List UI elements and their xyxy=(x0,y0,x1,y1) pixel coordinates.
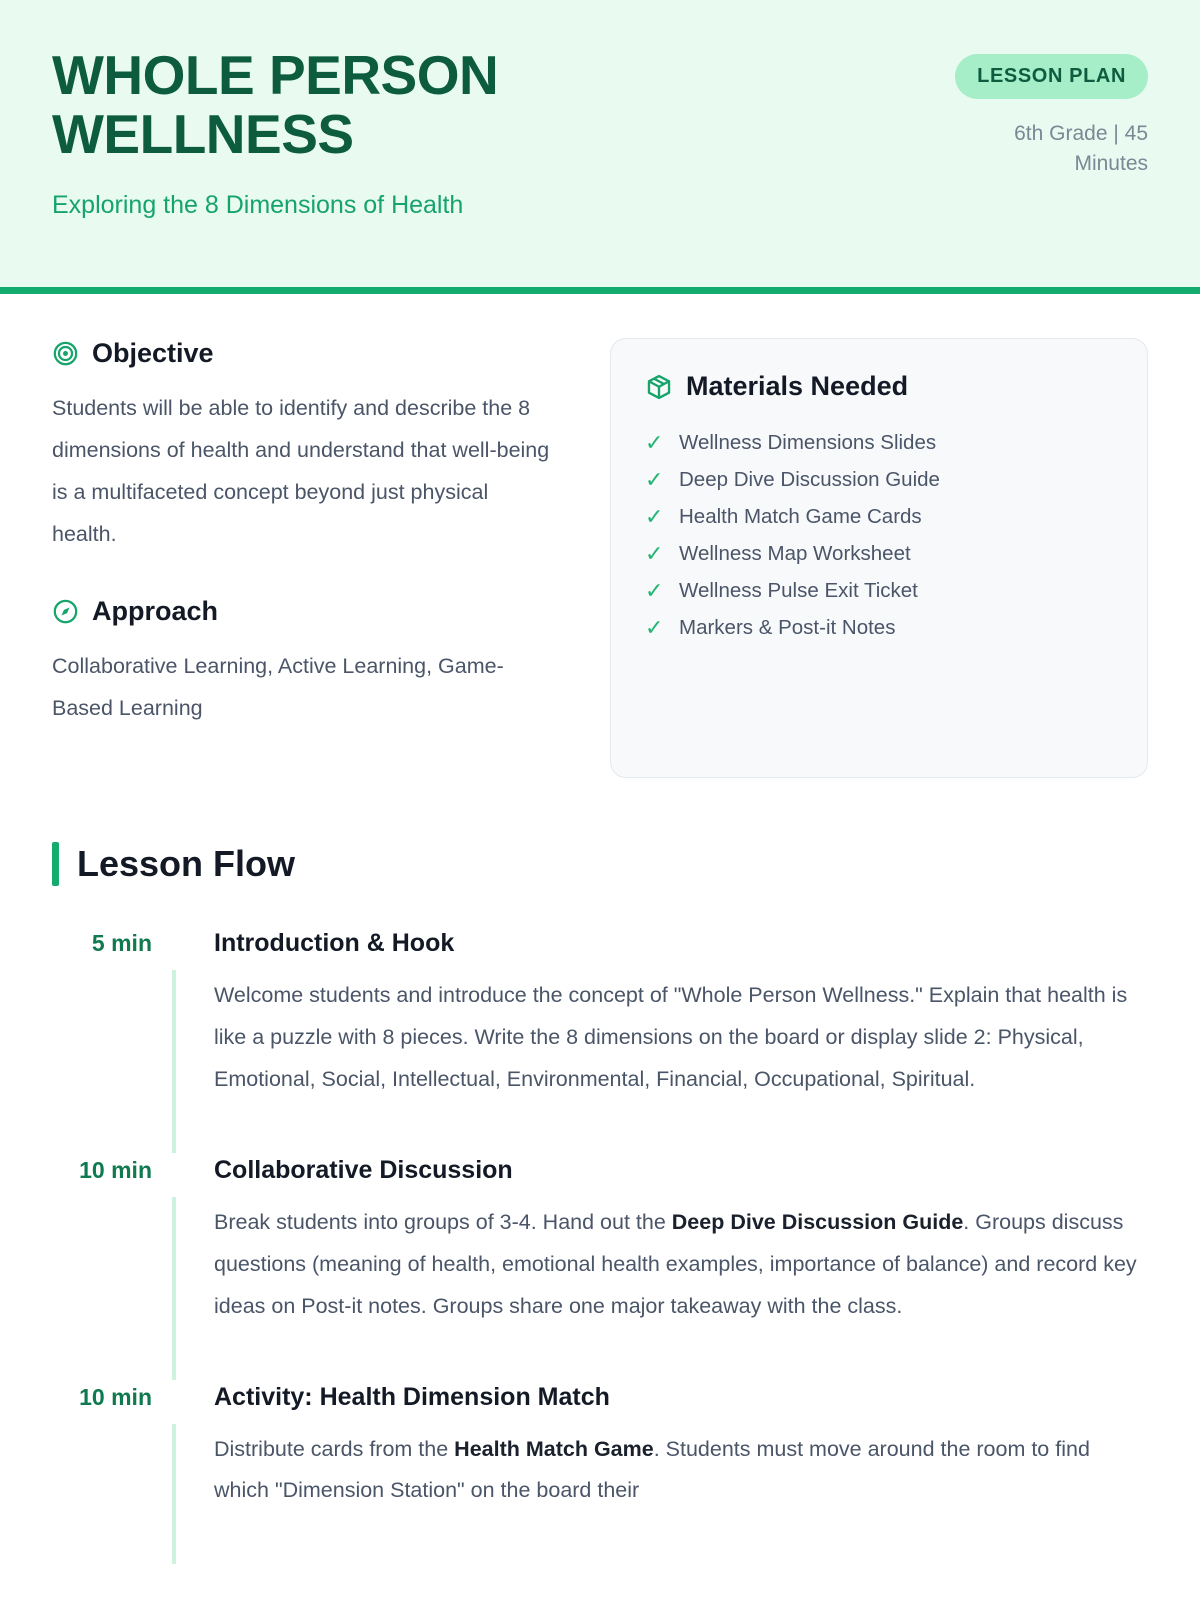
step-title: Activity: Health Dimension Match xyxy=(214,1380,1148,1415)
step-description: Distribute cards from the Health Match G… xyxy=(214,1429,1148,1513)
list-item: ✓Health Match Game Cards xyxy=(645,498,1113,535)
lesson-step: 5 minIntroduction & HookWelcome students… xyxy=(52,926,1148,1153)
material-label: Deep Dive Discussion Guide xyxy=(679,468,940,492)
step-emphasis: Health Match Game xyxy=(454,1437,654,1461)
step-emphasis: Deep Dive Discussion Guide xyxy=(672,1210,964,1234)
document-header: WHOLE PERSON WELLNESS Exploring the 8 Di… xyxy=(0,0,1200,294)
overview-right-column: Materials Needed ✓Wellness Dimensions Sl… xyxy=(610,338,1148,778)
step-description: Welcome students and introduce the conce… xyxy=(214,975,1148,1101)
check-icon: ✓ xyxy=(645,469,665,491)
step-text-run: Break students into groups of 3-4. Hand … xyxy=(214,1210,672,1234)
material-label: Wellness Map Worksheet xyxy=(679,542,911,566)
lesson-flow-title: Lesson Flow xyxy=(77,843,295,885)
compass-icon xyxy=(52,598,79,625)
lesson-step: 10 minActivity: Health Dimension MatchDi… xyxy=(52,1380,1148,1565)
lesson-flow-section: Lesson Flow 5 minIntroduction & HookWelc… xyxy=(52,842,1148,1564)
check-icon: ✓ xyxy=(645,506,665,528)
objective-heading-row: Objective xyxy=(52,338,552,369)
materials-heading-row: Materials Needed xyxy=(645,371,1113,402)
timeline-rail xyxy=(172,1424,176,1565)
lesson-flow-heading-row: Lesson Flow xyxy=(52,842,1148,886)
material-label: Markers & Post-it Notes xyxy=(679,616,895,640)
approach-title: Approach xyxy=(92,596,218,627)
step-duration: 10 min xyxy=(52,1380,174,1415)
step-body: Activity: Health Dimension MatchDistribu… xyxy=(174,1380,1148,1513)
materials-title: Materials Needed xyxy=(686,371,908,402)
step-body: Collaborative DiscussionBreak students i… xyxy=(174,1153,1148,1328)
check-icon: ✓ xyxy=(645,432,665,454)
objective-section: Objective Students will be able to ident… xyxy=(52,338,552,556)
lesson-step: 10 minCollaborative DiscussionBreak stud… xyxy=(52,1153,1148,1380)
materials-card: Materials Needed ✓Wellness Dimensions Sl… xyxy=(610,338,1148,778)
list-item: ✓Markers & Post-it Notes xyxy=(645,609,1113,646)
main-content: Objective Students will be able to ident… xyxy=(0,294,1200,1564)
step-title: Collaborative Discussion xyxy=(214,1153,1148,1188)
step-body: Introduction & HookWelcome students and … xyxy=(174,926,1148,1101)
list-item: ✓Wellness Map Worksheet xyxy=(645,535,1113,572)
material-label: Wellness Dimensions Slides xyxy=(679,431,936,455)
material-label: Health Match Game Cards xyxy=(679,505,922,529)
approach-text: Collaborative Learning, Active Learning,… xyxy=(52,646,552,730)
target-icon xyxy=(52,340,79,367)
material-label: Wellness Pulse Exit Ticket xyxy=(679,579,918,603)
materials-list: ✓Wellness Dimensions Slides✓Deep Dive Di… xyxy=(645,424,1113,646)
status-badge: LESSON PLAN xyxy=(955,54,1148,99)
check-icon: ✓ xyxy=(645,543,665,565)
overview-grid: Objective Students will be able to ident… xyxy=(52,338,1148,778)
objective-text: Students will be able to identify and de… xyxy=(52,388,552,556)
check-icon: ✓ xyxy=(645,580,665,602)
step-duration: 10 min xyxy=(52,1153,174,1188)
step-text-run: Distribute cards from the xyxy=(214,1437,454,1461)
approach-heading-row: Approach xyxy=(52,596,552,627)
check-icon: ✓ xyxy=(645,617,665,639)
objective-title: Objective xyxy=(92,338,214,369)
approach-section: Approach Collaborative Learning, Active … xyxy=(52,596,552,730)
header-left: WHOLE PERSON WELLNESS Exploring the 8 Di… xyxy=(52,46,752,220)
step-text-run: Welcome students and introduce the conce… xyxy=(214,983,1127,1091)
list-item: ✓Wellness Pulse Exit Ticket xyxy=(645,572,1113,609)
step-description: Break students into groups of 3-4. Hand … xyxy=(214,1202,1148,1328)
list-item: ✓Deep Dive Discussion Guide xyxy=(645,461,1113,498)
page-subtitle: Exploring the 8 Dimensions of Health xyxy=(52,191,752,220)
step-title: Introduction & Hook xyxy=(214,926,1148,961)
package-icon xyxy=(645,373,673,401)
page-title: WHOLE PERSON WELLNESS xyxy=(52,46,752,165)
timeline-rail xyxy=(172,970,176,1153)
timeline-rail xyxy=(172,1197,176,1380)
list-item: ✓Wellness Dimensions Slides xyxy=(645,424,1113,461)
overview-left-column: Objective Students will be able to ident… xyxy=(52,338,552,730)
header-right: LESSON PLAN 6th Grade | 45 Minutes xyxy=(948,46,1148,180)
lesson-flow-timeline: 5 minIntroduction & HookWelcome students… xyxy=(52,926,1148,1564)
step-duration: 5 min xyxy=(52,926,174,961)
accent-bar xyxy=(52,842,59,886)
lesson-meta: 6th Grade | 45 Minutes xyxy=(948,119,1148,180)
